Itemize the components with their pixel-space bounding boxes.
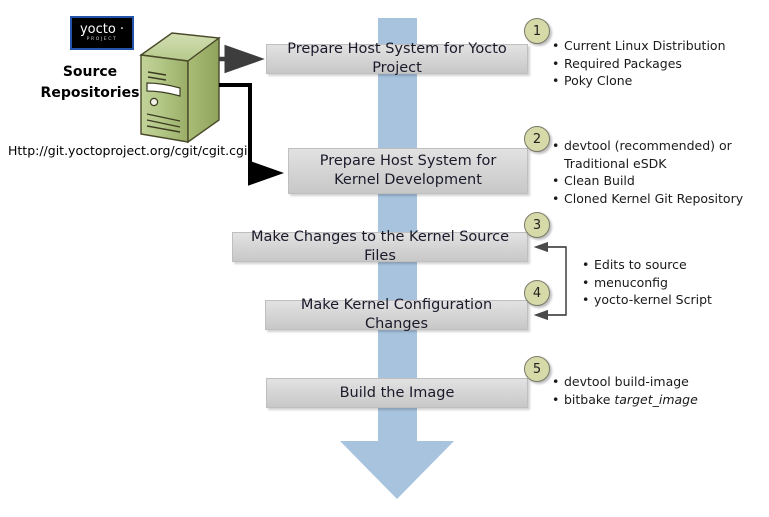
main-flow-arrow-head <box>340 441 454 499</box>
step-number-badge-5: 5 <box>524 356 550 382</box>
step-1-bullet-list: Current Linux Distribution Required Pack… <box>552 37 762 90</box>
list-item: Cloned Kernel Git Repository <box>552 190 767 208</box>
list-item: bitbake target_image <box>552 391 762 409</box>
process-box-step-3[interactable]: Make Changes to the Kernel Source Files <box>232 232 528 262</box>
step-number-badge-4: 4 <box>524 280 550 306</box>
source-repository-url: Http://git.yoctoproject.org/cgit/cgit.cg… <box>8 143 247 158</box>
process-box-step-1[interactable]: Prepare Host System for Yocto Project <box>266 44 528 74</box>
bitbake-command: bitbake <box>564 392 614 407</box>
diagram-canvas: yocto · PROJECT Source Repositories Http… <box>0 0 769 517</box>
logo-wordmark: yocto · <box>80 23 124 36</box>
source-repositories-label: Source Repositories <box>30 62 150 104</box>
process-box-step-4[interactable]: Make Kernel Configuration Changes <box>265 300 528 330</box>
list-item: Required Packages <box>552 55 762 73</box>
list-item: Edits to source <box>582 256 762 274</box>
server-tower-icon <box>136 30 224 145</box>
bitbake-target-arg: target_image <box>614 392 697 407</box>
step-number-badge-1: 1 <box>524 18 550 44</box>
list-item: devtool (recommended) or Traditional eSD… <box>552 137 767 172</box>
list-item: devtool build-image <box>552 373 762 391</box>
step-number-badge-2: 2 <box>524 126 550 152</box>
process-box-step-2[interactable]: Prepare Host System for Kernel Developme… <box>288 148 528 194</box>
process-box-step-5[interactable]: Build the Image <box>266 378 528 408</box>
list-item: Clean Build <box>552 172 767 190</box>
steps-3-4-bullet-list: Edits to source menuconfig yocto-kernel … <box>582 256 762 309</box>
step-2-bullet-list: devtool (recommended) or Traditional eSD… <box>552 137 767 207</box>
logo-subtext: PROJECT <box>87 38 118 43</box>
step-5-bullet-list: devtool build-image bitbake target_image <box>552 373 762 408</box>
yocto-project-logo: yocto · PROJECT <box>70 16 134 50</box>
list-item: Poky Clone <box>552 72 762 90</box>
list-item: yocto-kernel Script <box>582 291 762 309</box>
list-item: menuconfig <box>582 274 762 292</box>
list-item: Current Linux Distribution <box>552 37 762 55</box>
step-number-badge-3: 3 <box>524 212 550 238</box>
